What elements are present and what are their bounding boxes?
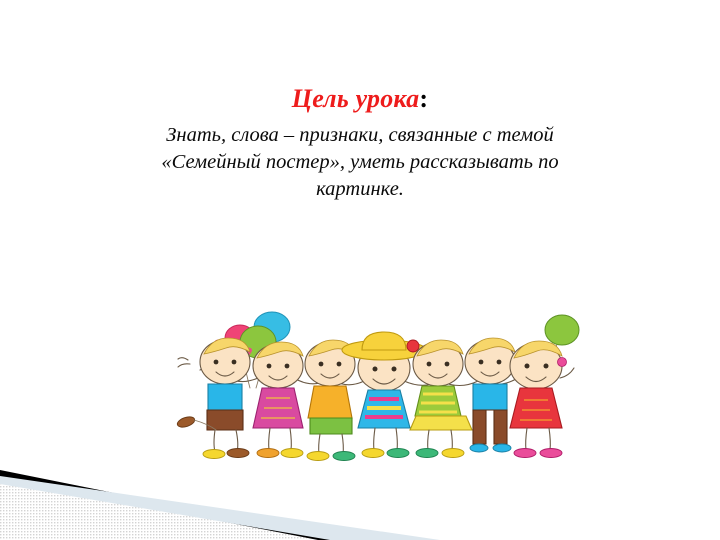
child5-skirt	[410, 416, 472, 430]
child-boy-waving	[178, 338, 250, 459]
child3-top	[308, 386, 352, 418]
hair-clip	[558, 358, 567, 367]
children-illustration: .ln{fill:none;stroke:#6b5a46;stroke-widt…	[170, 300, 590, 462]
hat-flower	[407, 340, 419, 352]
child-girl-yellow-hat	[342, 332, 426, 458]
lesson-objective-body: Знать, слова – признаки, связанные с тем…	[52, 122, 668, 203]
child1-bottom	[207, 410, 243, 430]
child3-bottom	[310, 418, 352, 434]
lesson-objective-text-block: Цель урока: Знать, слова – признаки, свя…	[52, 84, 668, 203]
child7-dress	[510, 388, 562, 428]
yellow-sun-hat	[342, 332, 426, 360]
slide-canvas: Цель урока: Знать, слова – признаки, свя…	[0, 0, 720, 540]
child6-bottom	[473, 410, 507, 444]
child-girl-red-dress	[510, 341, 574, 458]
child-boy-orange-top	[305, 340, 355, 461]
bottom-diagonal-band	[0, 450, 720, 540]
child-girl-pink-dress	[253, 342, 303, 458]
page-title-colon: :	[419, 84, 428, 113]
page-title-text: Цель урока	[292, 84, 420, 113]
page-title: Цель урока:	[52, 84, 668, 114]
objective-line-2: «Семейный постер», уметь рассказывать по	[52, 149, 668, 176]
child6-top	[473, 384, 507, 410]
child-boy-blue-shirt	[465, 338, 515, 452]
balloon-green-right	[545, 315, 579, 345]
objective-line-3: картинке.	[52, 176, 668, 203]
child-girl-green-stripes	[410, 340, 472, 458]
child1-top	[208, 384, 242, 410]
objective-line-1: Знать, слова – признаки, связанные с тем…	[52, 122, 668, 149]
